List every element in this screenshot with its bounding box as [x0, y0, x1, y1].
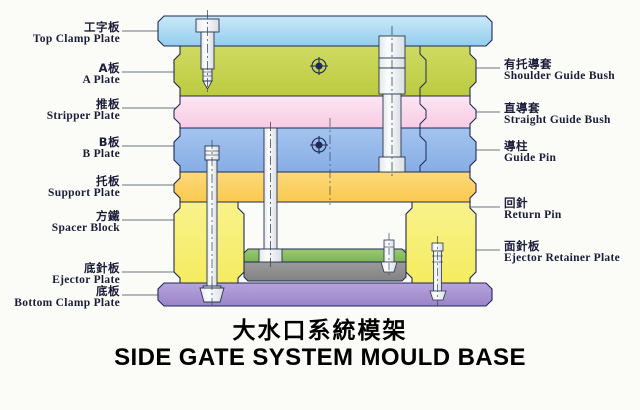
label-ejector-retainer-plate-cn: 面針板: [504, 240, 620, 252]
label-guide-pin: 導柱 Guide Pin: [504, 140, 556, 164]
label-stripper-plate: 推板 Stripper Plate: [47, 98, 120, 122]
label-straight-guide-bush-cn: 直導套: [504, 102, 611, 114]
label-stripper-plate-cn: 推板: [47, 98, 120, 110]
label-top-clamp-plate: 工字板 Top Clamp Plate: [33, 21, 120, 45]
label-a-plate-en: A Plate: [82, 74, 120, 86]
label-a-plate: A板 A Plate: [82, 62, 120, 86]
label-ejector-retainer-plate: 面針板 Ejector Retainer Plate: [504, 240, 620, 264]
guide-pin: [379, 26, 405, 176]
label-support-plate-cn: 托板: [48, 175, 120, 187]
label-support-plate-en: Support Plate: [48, 187, 120, 199]
label-guide-pin-en: Guide Pin: [504, 152, 556, 164]
plate-a-plate: [174, 46, 476, 96]
label-spacer-block: 方鐵 Spacer Block: [52, 210, 120, 234]
label-shoulder-guide-bush: 有托導套 Shoulder Guide Bush: [504, 58, 615, 82]
label-spacer-block-en: Spacer Block: [52, 222, 120, 234]
label-ejector-plate-cn: 底針板: [52, 262, 120, 274]
mould-base-diagram: 工字板 Top Clamp Plate A板 A Plate 推板 Stripp…: [0, 0, 640, 410]
label-shoulder-guide-bush-en: Shoulder Guide Bush: [504, 70, 615, 82]
label-straight-guide-bush: 直導套 Straight Guide Bush: [504, 102, 611, 126]
label-bottom-clamp-plate: 底板 Bottom Clamp Plate: [14, 285, 120, 309]
label-return-pin: 回針 Return Pin: [504, 197, 562, 221]
label-support-plate: 托板 Support Plate: [48, 175, 120, 199]
diagram-title: 大水口系統模架 SIDE GATE SYSTEM MOULD BASE: [0, 318, 640, 372]
label-bottom-clamp-plate-cn: 底板: [14, 285, 120, 297]
label-shoulder-guide-bush-cn: 有托導套: [504, 58, 615, 70]
label-ejector-retainer-plate-en: Ejector Retainer Plate: [504, 252, 620, 264]
label-return-pin-en: Return Pin: [504, 209, 562, 221]
label-ejector-plate: 底針板 Ejector Plate: [52, 262, 120, 286]
diagram-title-cn: 大水口系統模架: [0, 318, 640, 344]
label-a-plate-cn: A板: [82, 62, 120, 74]
label-top-clamp-plate-cn: 工字板: [33, 21, 120, 33]
label-stripper-plate-en: Stripper Plate: [47, 110, 120, 122]
label-b-plate-cn: B板: [82, 136, 120, 148]
label-guide-pin-cn: 導柱: [504, 140, 556, 152]
label-spacer-block-cn: 方鐵: [52, 210, 120, 222]
label-straight-guide-bush-en: Straight Guide Bush: [504, 114, 611, 126]
label-return-pin-cn: 回針: [504, 197, 562, 209]
label-b-plate: B板 B Plate: [82, 136, 120, 160]
plate-stripper-plate: [174, 96, 476, 128]
label-top-clamp-plate-en: Top Clamp Plate: [33, 33, 120, 45]
diagram-title-en: SIDE GATE SYSTEM MOULD BASE: [0, 344, 640, 372]
label-bottom-clamp-plate-en: Bottom Clamp Plate: [14, 297, 120, 309]
label-b-plate-en: B Plate: [82, 148, 120, 160]
plate-support-plate: [174, 172, 476, 202]
